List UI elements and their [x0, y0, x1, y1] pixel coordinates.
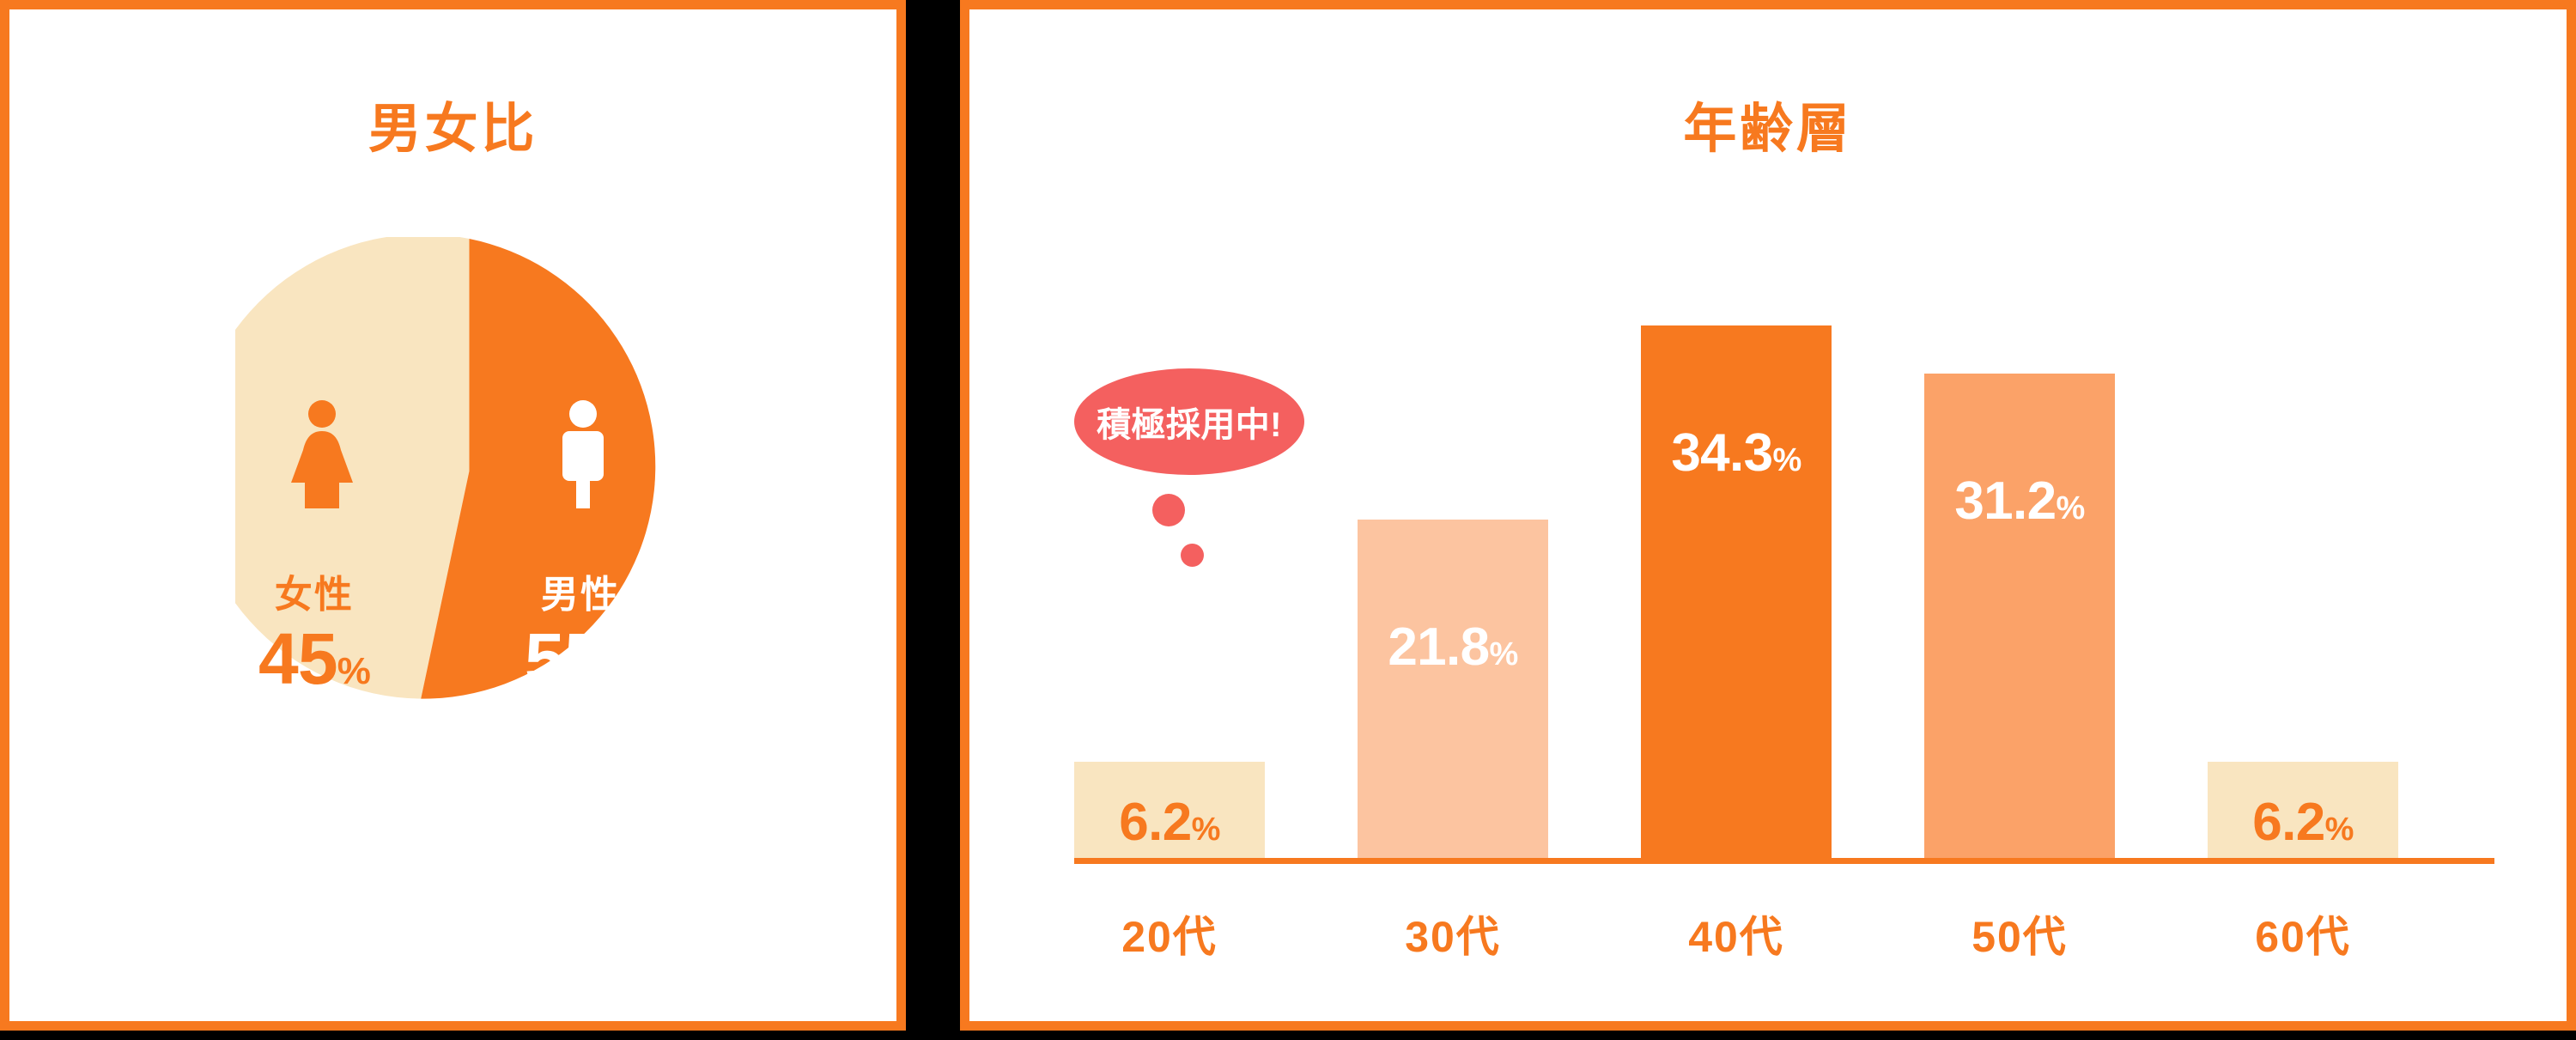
age-group-bar-chart: 6.2%20代21.8%30代34.3%40代31.2%50代6.2%60代 [969, 9, 2576, 1040]
bar-value-20代: 6.2% [1074, 796, 1265, 849]
bar-value-number: 6.2 [1119, 793, 1191, 852]
bar-column-40代: 34.3%40代 [1641, 325, 1832, 858]
bar-column-60代: 6.2%60代 [2208, 762, 2398, 858]
pie-label-male-caption: 男性 [490, 576, 671, 614]
bar-value-unit: % [2057, 490, 2085, 526]
page-title-gender: 男女比 [9, 85, 896, 162]
infographic-root: 男女比 女性 [0, 0, 2576, 1031]
pie-label-male: 男性 55% [490, 576, 671, 695]
bar-column-50代: 31.2%50代 [1924, 374, 2115, 858]
pie-label-female: 女性 45% [224, 576, 404, 695]
age-group-panel: 年齢層 積極採用中! 6.2%20代21.8%30代34.3%40代31.2%5… [960, 0, 2576, 1031]
bar-category-label-40代: 40代 [1641, 903, 1832, 964]
bar-value-unit: % [1192, 812, 1220, 848]
chart-baseline [1074, 858, 2494, 864]
bar-50代: 31.2%50代 [1924, 374, 2115, 858]
male-figure-icon [550, 400, 616, 513]
bar-20代: 6.2%20代 [1074, 762, 1265, 858]
bar-value-unit: % [1490, 636, 1518, 672]
gender-ratio-panel: 男女比 女性 [0, 0, 906, 1031]
bar-value-unit: % [1773, 442, 1801, 478]
bar-category-label-20代: 20代 [1074, 903, 1265, 964]
bar-value-60代: 6.2% [2208, 796, 2398, 849]
bar-category-label-60代: 60代 [2208, 903, 2398, 964]
bar-30代: 21.8%30代 [1358, 520, 1548, 858]
bar-60代: 6.2%60代 [2208, 762, 2398, 858]
bar-value-40代: 34.3% [1641, 427, 1832, 480]
bar-category-label-30代: 30代 [1358, 903, 1548, 964]
pie-label-female-caption: 女性 [224, 576, 404, 614]
female-figure-icon [283, 400, 361, 513]
bar-value-number: 31.2 [1954, 471, 2056, 531]
bar-value-number: 34.3 [1671, 423, 1772, 483]
pie-label-female-value: 45% [224, 623, 404, 695]
bar-category-label-50代: 50代 [1924, 903, 2115, 964]
bar-value-50代: 31.2% [1924, 475, 2115, 528]
bar-value-number: 6.2 [2252, 793, 2324, 852]
pie-label-male-value: 55% [490, 623, 671, 695]
bar-value-unit: % [2325, 812, 2354, 848]
bar-40代: 34.3%40代 [1641, 325, 1832, 858]
bar-value-number: 21.8 [1388, 617, 1489, 677]
bar-column-20代: 6.2%20代 [1074, 762, 1265, 858]
bar-column-30代: 21.8%30代 [1358, 520, 1548, 858]
bar-value-30代: 21.8% [1358, 621, 1548, 674]
